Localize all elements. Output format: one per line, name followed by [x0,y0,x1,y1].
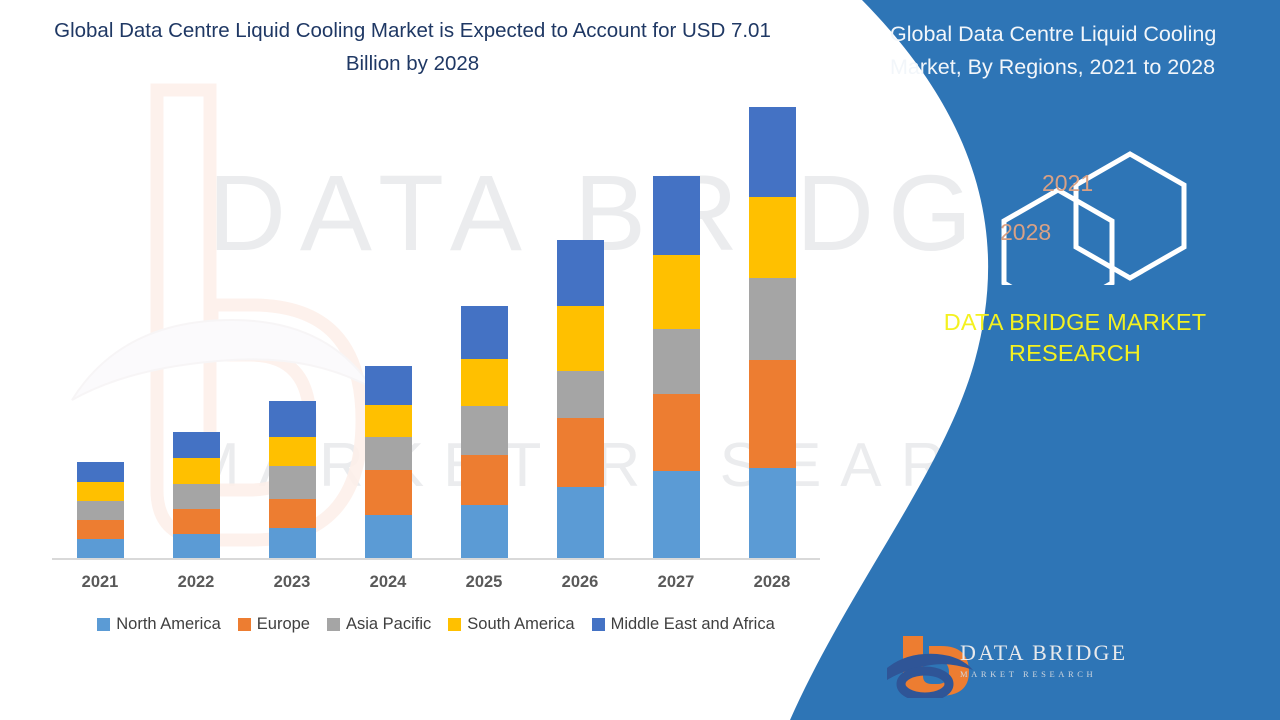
bar-segment[interactable] [653,176,700,255]
footer-logo-text: DATA BRIDGE MARKET RESEARCH [960,640,1110,679]
x-axis-label-2025: 2025 [436,573,532,592]
bar-column-2022[interactable] [148,100,244,558]
brand-line-1: DATA BRIDGE MARKET [944,309,1207,335]
hexagon-group [980,150,1280,285]
bar-segment[interactable] [269,401,316,436]
bar-segment[interactable] [749,278,796,360]
legend-item[interactable]: Asia Pacific [327,615,431,634]
brand-line-2: RESEARCH [1009,340,1141,366]
stacked-bar-chart [52,100,820,558]
bar-segment[interactable] [269,528,316,558]
bar-segment[interactable] [557,371,604,418]
x-axis-label-2023: 2023 [244,573,340,592]
bar-column-2023[interactable] [244,100,340,558]
x-axis-label-2021: 2021 [52,573,148,592]
bar-segment[interactable] [557,240,604,306]
bar-segment[interactable] [77,539,124,558]
bar-stack[interactable] [557,240,604,558]
bar-stack[interactable] [173,432,220,558]
bar-segment[interactable] [749,107,796,197]
bar-stack[interactable] [653,176,700,558]
bar-segment[interactable] [269,437,316,467]
footer-logo-sub: MARKET RESEARCH [960,669,1110,679]
x-axis-label-2024: 2024 [340,573,436,592]
bar-column-2028[interactable] [724,100,820,558]
brand-name: DATA BRIDGE MARKET RESEARCH [880,307,1270,369]
bar-segment[interactable] [77,462,124,482]
bar-stack[interactable] [461,306,508,559]
bar-segment[interactable] [653,329,700,394]
bar-segment[interactable] [461,359,508,406]
bar-column-2021[interactable] [52,100,148,558]
bar-segment[interactable] [653,255,700,329]
bar-segment[interactable] [461,455,508,506]
bar-column-2027[interactable] [628,100,724,558]
infographic-canvas: DATA BRIDGE MARKET RESEARCH Global Data … [0,0,1280,720]
x-axis-label-2028: 2028 [724,573,820,592]
bar-segment[interactable] [365,515,412,558]
bar-segment[interactable] [461,306,508,360]
legend-label: Middle East and Africa [611,615,775,634]
bar-segment[interactable] [269,499,316,527]
chart-legend: North AmericaEuropeAsia PacificSouth Ame… [52,615,820,634]
bar-segment[interactable] [173,432,220,459]
x-axis-label-2026: 2026 [532,573,628,592]
legend-swatch-icon [448,618,461,631]
bar-segment[interactable] [77,482,124,501]
bar-segment[interactable] [461,505,508,558]
hexagon-label-2021: 2021 [1042,170,1093,197]
x-axis-labels: 20212022202320242025202620272028 [52,573,820,592]
bar-column-2026[interactable] [532,100,628,558]
bar-segment[interactable] [653,471,700,558]
bar-segment[interactable] [653,394,700,471]
legend-label: Europe [257,615,310,634]
legend-item[interactable]: Europe [238,615,310,634]
bar-segment[interactable] [365,470,412,515]
x-axis-label-2022: 2022 [148,573,244,592]
bar-segment[interactable] [557,418,604,487]
legend-item[interactable]: North America [97,615,221,634]
legend-swatch-icon [592,618,605,631]
bar-segment[interactable] [173,509,220,535]
bar-column-2024[interactable] [340,100,436,558]
page-title: Global Data Centre Liquid Cooling Market… [40,14,785,80]
x-axis-label-2027: 2027 [628,573,724,592]
bar-segment[interactable] [77,501,124,520]
bar-segment[interactable] [461,406,508,454]
bar-segment[interactable] [557,306,604,371]
hexagon-label-2028: 2028 [1000,219,1051,246]
bar-column-2025[interactable] [436,100,532,558]
legend-item[interactable]: South America [448,615,574,634]
legend-swatch-icon [97,618,110,631]
x-axis-line [52,558,820,560]
legend-swatch-icon [238,618,251,631]
bar-segment[interactable] [269,466,316,499]
bar-segment[interactable] [749,197,796,277]
bar-segment[interactable] [365,437,412,470]
bar-segment[interactable] [173,458,220,483]
legend-label: North America [116,615,221,634]
bar-stack[interactable] [749,107,796,558]
legend-label: South America [467,615,574,634]
bar-segment[interactable] [173,484,220,509]
legend-label: Asia Pacific [346,615,431,634]
bar-segment[interactable] [749,360,796,468]
bar-segment[interactable] [173,534,220,558]
legend-swatch-icon [327,618,340,631]
bar-segment[interactable] [365,405,412,437]
footer-logo-main: DATA BRIDGE [960,640,1110,666]
bar-segment[interactable] [365,366,412,406]
bar-stack[interactable] [269,401,316,558]
bar-stack[interactable] [77,462,124,558]
panel-content: Global Data Centre Liquid Cooling Market… [860,0,1280,720]
bar-segment[interactable] [557,487,604,558]
bar-segment[interactable] [77,520,124,539]
panel-title: Global Data Centre Liquid Cooling Market… [890,18,1270,84]
legend-item[interactable]: Middle East and Africa [592,615,775,634]
bar-segment[interactable] [749,468,796,558]
bar-stack[interactable] [365,366,412,558]
